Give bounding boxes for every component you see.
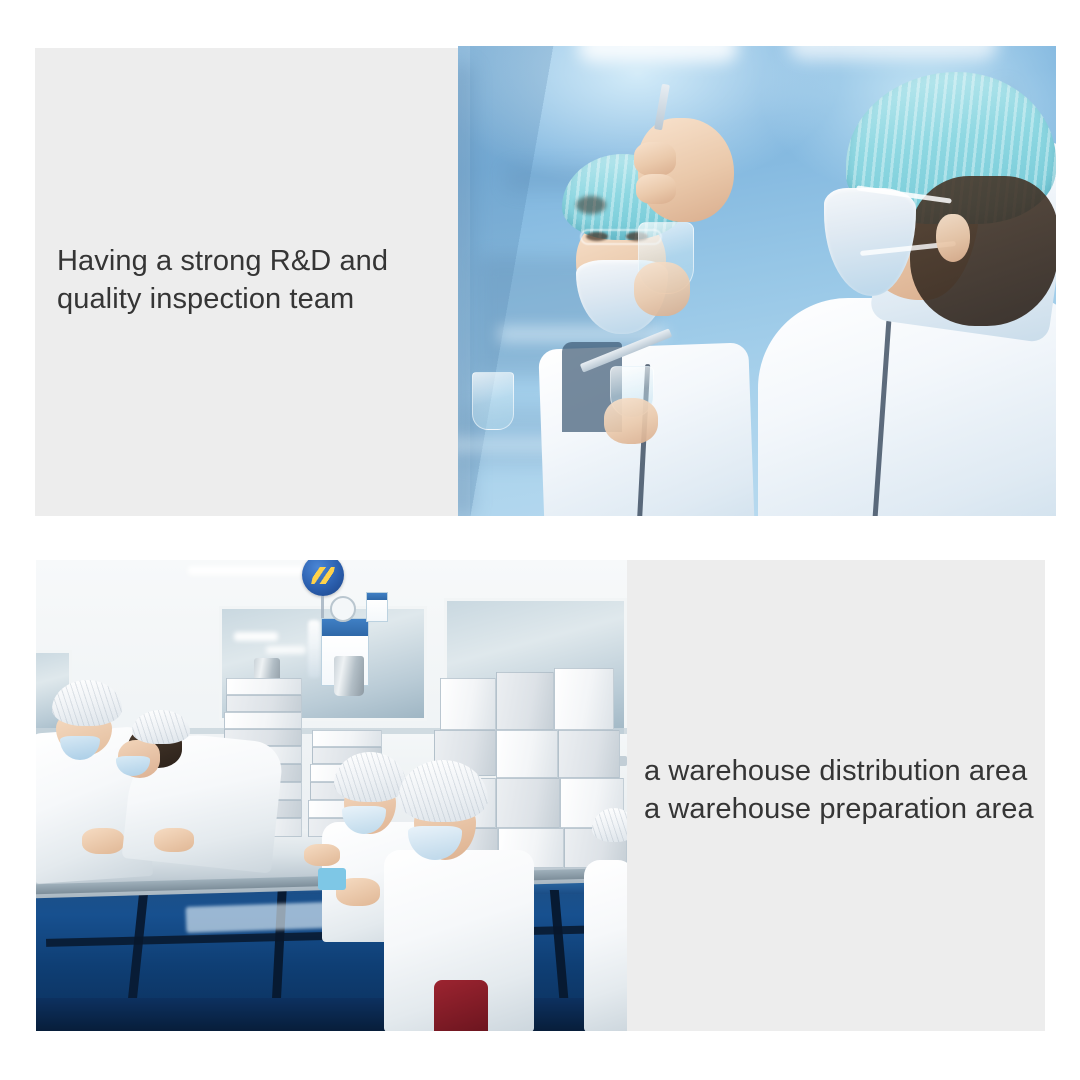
carton: [554, 668, 614, 730]
worker-5-lab-coat: [584, 860, 627, 1031]
warehouse-caption: a warehouse distribution area a warehous…: [644, 753, 1044, 828]
hanging-cable: [308, 620, 320, 678]
ceiling-light: [578, 46, 738, 62]
worker-4-lower-garment: [434, 980, 488, 1031]
worker-a-eye: [586, 232, 608, 241]
warehouse-packing-area-photo: [36, 560, 627, 1031]
carton: [226, 695, 302, 712]
carton: [226, 678, 302, 695]
rd-quality-caption: Having a strong R&D and quality inspecti…: [57, 243, 457, 318]
carton: [440, 678, 496, 730]
laboratory-quality-inspection-photo: [458, 46, 1056, 516]
ceiling-strip-light: [234, 632, 278, 641]
carton: [312, 730, 382, 747]
page-canvas: Having a strong R&D and quality inspecti…: [0, 0, 1080, 1080]
worker-a-hair: [576, 196, 606, 214]
worker-3-hand: [304, 844, 340, 866]
ceiling-strip-light: [266, 646, 306, 654]
worker-b-hand-lower: [634, 262, 690, 316]
carton: [558, 730, 620, 778]
steel-canister: [334, 656, 364, 696]
blue-product-item: [318, 868, 346, 890]
ceiling-light: [788, 46, 998, 60]
worker-2-hand: [154, 828, 194, 852]
worker-4-hair: [454, 792, 508, 864]
wall-label: [366, 592, 388, 622]
carton: [224, 712, 302, 729]
carton: [496, 672, 554, 730]
worker-1-hand: [82, 828, 124, 854]
worker-b-finger: [636, 174, 676, 204]
beaker: [472, 372, 514, 430]
floor-shadow: [36, 998, 627, 1031]
worker-b-finger: [634, 142, 676, 176]
worker-a-hand: [604, 398, 658, 444]
ceiling-strip-light: [188, 566, 308, 575]
wall-clock: [330, 596, 356, 622]
worker-b-ear: [936, 214, 970, 262]
carton: [496, 730, 558, 778]
